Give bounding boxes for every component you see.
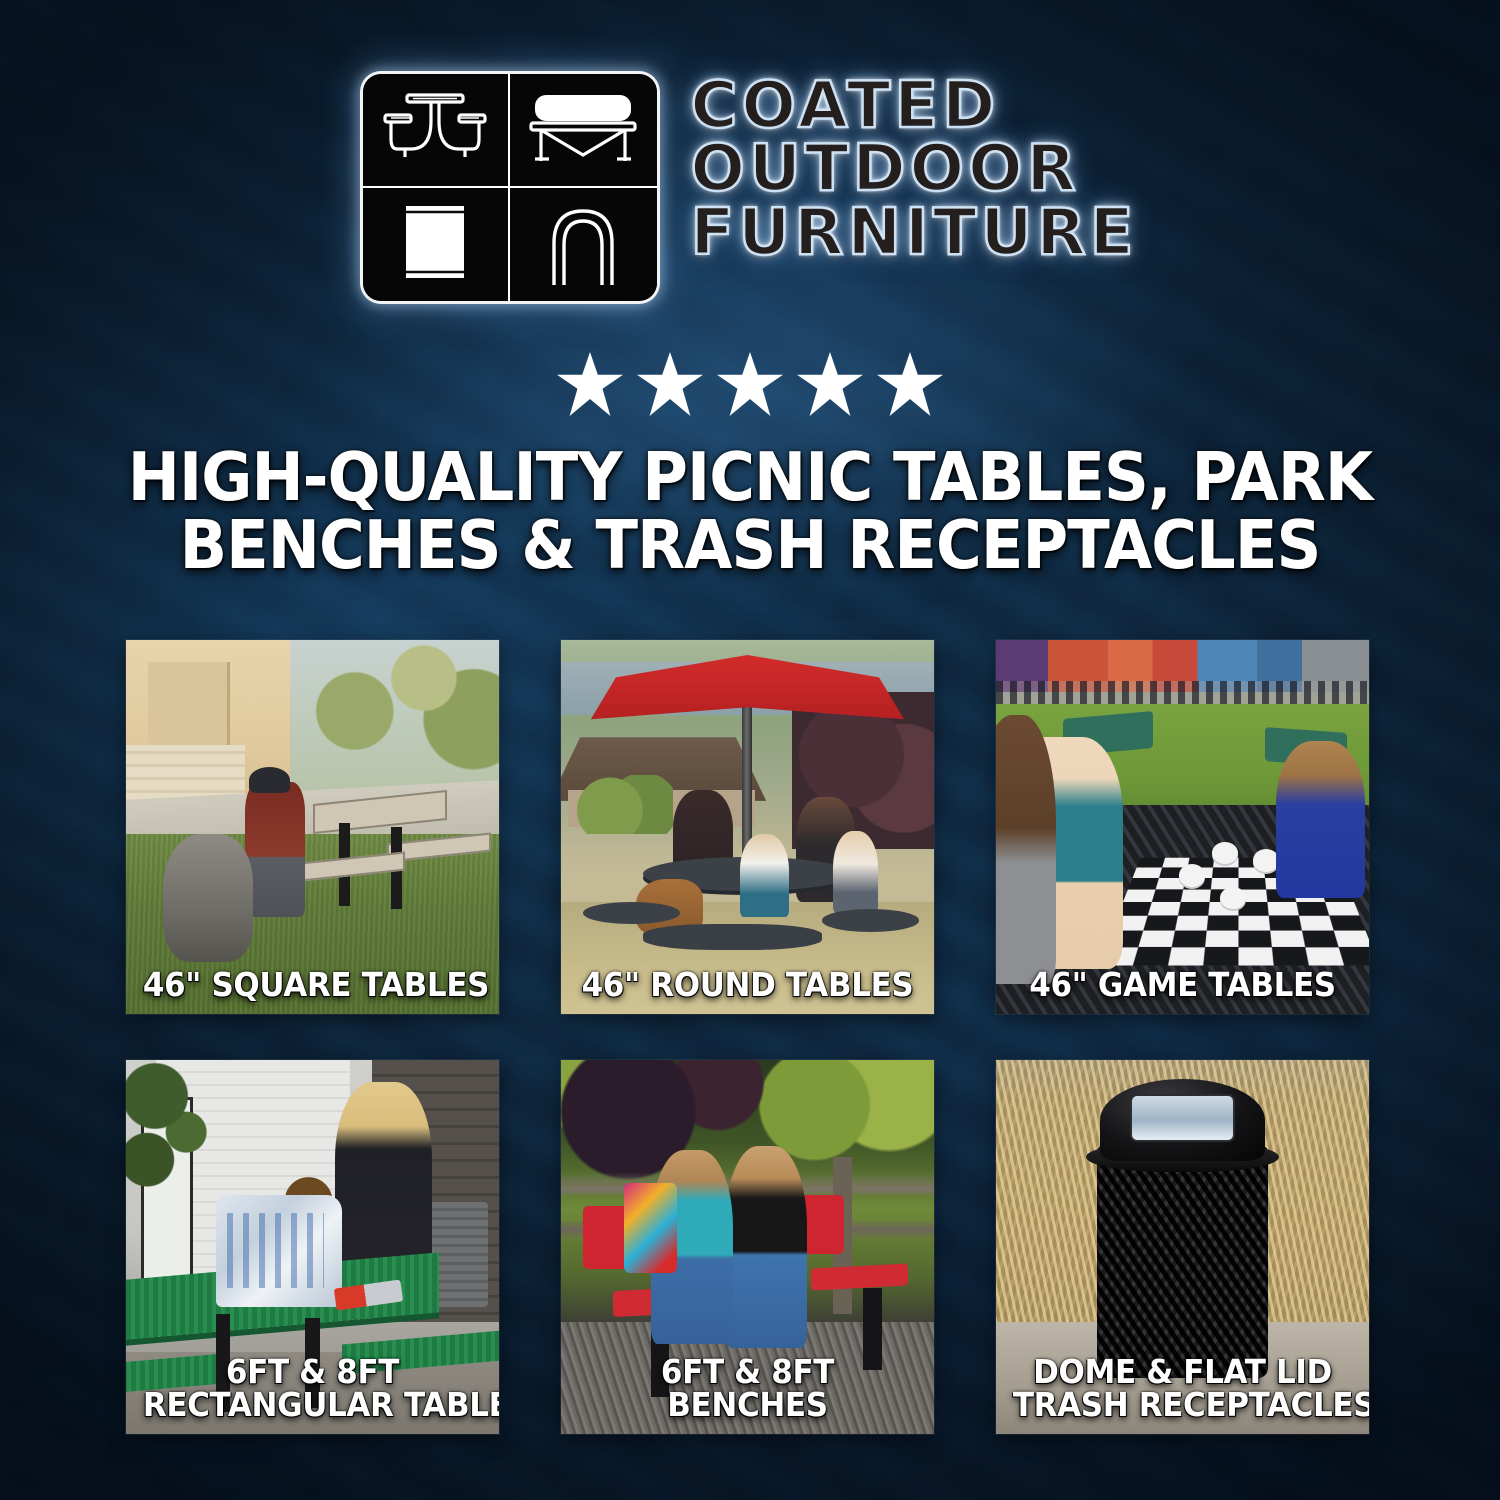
product-tile-benches[interactable]: 6FT & 8FT BENCHES <box>561 1060 934 1434</box>
product-caption-benches: 6FT & 8FT BENCHES <box>578 1355 917 1422</box>
caption-line-2: BENCHES <box>578 1388 917 1422</box>
brand-word-furniture: FURNITURE <box>691 203 1138 264</box>
star-icon <box>877 352 943 416</box>
product-caption-game-tables: 46" GAME TABLES <box>1013 968 1352 1002</box>
bike-rack-icon <box>510 188 657 302</box>
caption-line-1: 46" ROUND TABLES <box>578 968 917 1002</box>
star-icon <box>797 352 863 416</box>
caption-line-1: 46" GAME TABLES <box>1013 968 1352 1002</box>
trash-receptacle-icon <box>363 188 510 302</box>
caption-line-1: 6FT & 8FT <box>578 1355 917 1389</box>
brand-word-coated: COATED <box>691 76 1138 137</box>
caption-line-1: 46" SQUARE TABLES <box>143 968 482 1002</box>
page-title: HIGH-QUALITY PICNIC TABLES, PARK BENCHES… <box>108 443 1391 580</box>
product-photo-game-tables <box>996 640 1369 1014</box>
promo-banner: COATED OUTDOOR FURNITURE HIGH-QUALITY PI… <box>0 0 1500 1500</box>
product-tile-square-tables[interactable]: 46" SQUARE TABLES <box>126 640 499 1014</box>
product-tile-round-tables[interactable]: 46" ROUND TABLES <box>561 640 934 1014</box>
headline-line-2: BENCHES & TRASH RECEPTACLES <box>108 511 1391 579</box>
star-icon <box>717 352 783 416</box>
product-caption-round-tables: 46" ROUND TABLES <box>578 968 917 1002</box>
caption-line-1: 6FT & 8FT <box>143 1355 482 1389</box>
product-tile-game-tables[interactable]: 46" GAME TABLES <box>996 640 1369 1014</box>
brand-word-outdoor: OUTDOOR <box>691 139 1138 200</box>
product-caption-rectangular-tables: 6FT & 8FT RECTANGULAR TABLES <box>143 1355 482 1422</box>
star-icon <box>557 352 623 416</box>
caption-line-2: RECTANGULAR TABLES <box>143 1388 482 1422</box>
product-photo-square-tables <box>126 640 499 1014</box>
picnic-table-icon <box>363 74 510 188</box>
caption-line-1: DOME & FLAT LID <box>1013 1355 1352 1389</box>
star-rating <box>0 352 1500 416</box>
headline-line-1: HIGH-QUALITY PICNIC TABLES, PARK <box>108 443 1391 511</box>
star-icon <box>637 352 703 416</box>
park-bench-icon <box>510 74 657 188</box>
product-grid: 46" SQUARE TABLES <box>126 640 1375 1434</box>
product-photo-round-tables <box>561 640 934 1014</box>
product-tile-rectangular-tables[interactable]: 6FT & 8FT RECTANGULAR TABLES <box>126 1060 499 1434</box>
brand-logo: COATED OUTDOOR FURNITURE <box>0 74 1500 301</box>
logo-icon-grid <box>363 74 657 301</box>
product-tile-trash-receptacles[interactable]: DOME & FLAT LID TRASH RECEPTACLES <box>996 1060 1369 1434</box>
product-caption-trash-receptacles: DOME & FLAT LID TRASH RECEPTACLES <box>1013 1355 1352 1422</box>
caption-line-2: TRASH RECEPTACLES <box>1013 1388 1352 1422</box>
product-caption-square-tables: 46" SQUARE TABLES <box>143 968 482 1002</box>
brand-wordmark: COATED OUTDOOR FURNITURE <box>691 74 1138 264</box>
